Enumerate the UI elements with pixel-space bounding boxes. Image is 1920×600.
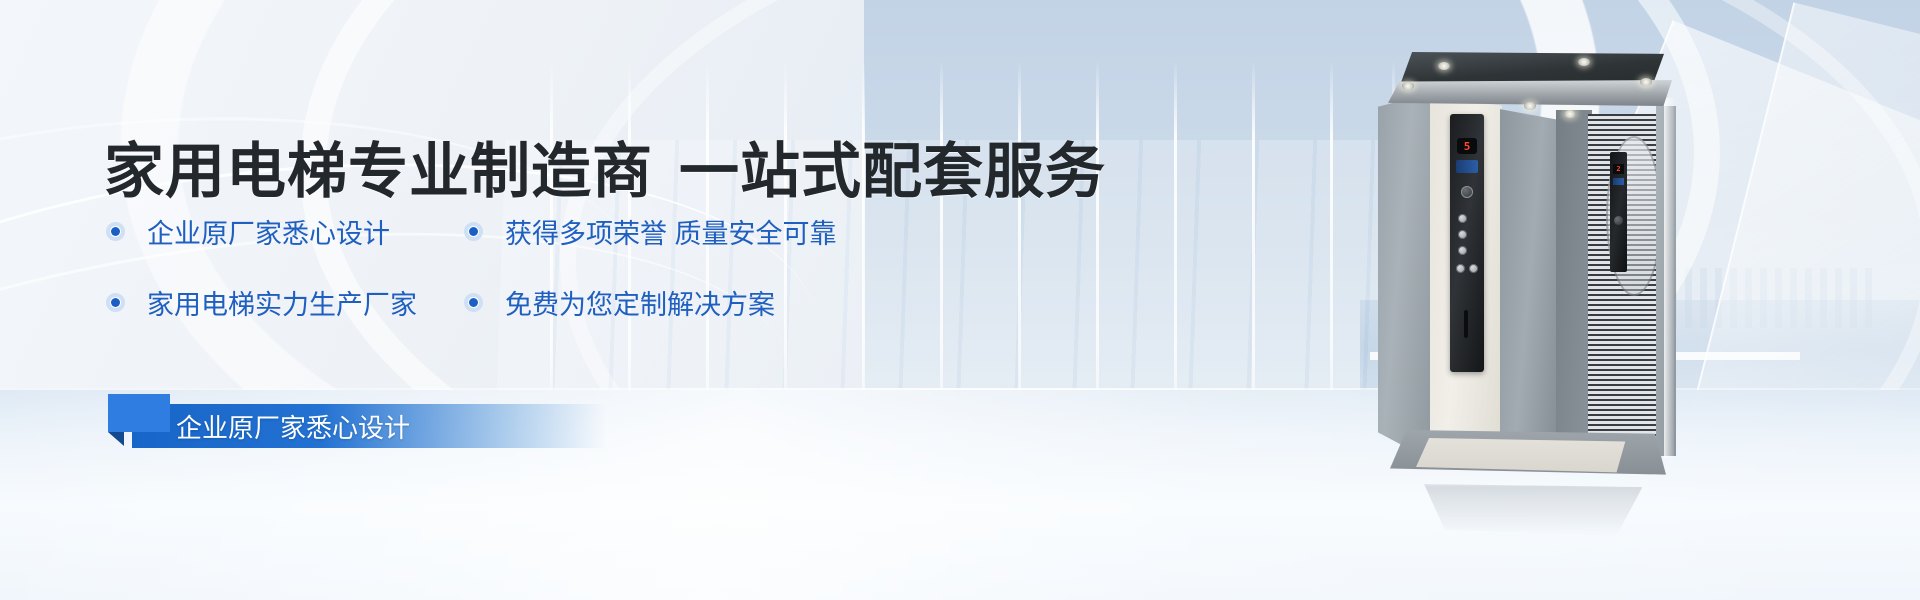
list-item: 免费为您定制解决方案: [464, 283, 775, 322]
floor-button: [1458, 246, 1467, 255]
elevator-control-panel-reflection: 2: [1610, 152, 1627, 272]
headline-part-2: 一站式配套服务: [679, 138, 1106, 205]
list-item-label: 家用电梯实力生产厂家: [147, 283, 417, 322]
list-item: 获得多项荣誉 质量安全可靠: [464, 212, 837, 251]
feature-list: 企业原厂家悉心设计 获得多项荣誉 质量安全可靠 家用电梯实力生产厂家 免费为您定…: [106, 212, 1006, 322]
cabin-wall-left: [1378, 92, 1434, 462]
ceiling-downlight-icon: [1438, 62, 1450, 70]
floor-button: [1458, 214, 1467, 223]
background-roof-panel: [1658, 2, 1920, 600]
highlight-ribbon-label: 企业原厂家悉心设计: [176, 408, 410, 445]
list-item-label: 企业原厂家悉心设计: [147, 212, 390, 251]
bullet-dot-icon: [106, 222, 125, 241]
feature-row: 家用电梯实力生产厂家 免费为您定制解决方案: [106, 283, 1006, 322]
ribbon-tab-icon: [108, 394, 170, 432]
ceiling-downlight-icon: [1524, 102, 1536, 110]
bullet-dot-icon: [106, 293, 125, 312]
panel-key-slot: [1464, 310, 1468, 338]
feature-row: 企业原厂家悉心设计 获得多项荣誉 质量安全可靠: [106, 212, 1006, 251]
list-item-label: 获得多项荣誉 质量安全可靠: [505, 212, 837, 251]
cabin-floor-reflection: [1398, 484, 1658, 536]
ribbon-fold-icon: [108, 432, 124, 446]
ceiling-downlight-icon: [1402, 82, 1414, 90]
floor-indicator-display: 5: [1457, 138, 1477, 154]
elevator-control-panel: 5: [1450, 114, 1484, 372]
promo-banner: 5 2 家用电梯专业制造商一站式配套服务 企: [0, 0, 1920, 600]
banner-content: 家用电梯专业制造商一站式配套服务 企业原厂家悉心设计 获得多项荣誉 质量安全可靠…: [0, 0, 1150, 600]
door-close-button: [1469, 264, 1478, 273]
ceiling-downlight-icon: [1640, 78, 1652, 86]
ceiling-downlight-icon: [1564, 110, 1576, 118]
list-item: 企业原厂家悉心设计: [106, 212, 464, 251]
cabin-glass-edge: [1664, 98, 1674, 458]
headline-part-1: 家用电梯专业制造商: [104, 138, 653, 205]
panel-brand-badge-reflection: [1613, 178, 1624, 185]
list-item: 家用电梯实力生产厂家: [106, 283, 464, 322]
cabin-wall-gray-deep: [1556, 110, 1592, 450]
bullet-dot-icon: [464, 222, 483, 241]
panel-brand-badge: [1456, 160, 1478, 173]
cabin-floor-tile: [1416, 438, 1634, 482]
list-item-label: 免费为您定制解决方案: [505, 283, 775, 322]
panel-emergency-button-reflection: [1614, 216, 1623, 225]
ceiling-downlight-icon: [1578, 58, 1590, 66]
highlight-ribbon: 企业原厂家悉心设计: [132, 404, 606, 448]
floor-indicator-display-reflection: 2: [1613, 164, 1624, 174]
floor-button: [1458, 230, 1467, 239]
bullet-dot-icon: [464, 293, 483, 312]
panel-emergency-button: [1461, 186, 1473, 198]
door-open-button: [1456, 264, 1465, 273]
elevator-cabin-image: 5 2: [1378, 52, 1678, 492]
page-title: 家用电梯专业制造商一站式配套服务: [104, 123, 1106, 210]
cabin-wall-gray-mid: [1500, 102, 1558, 458]
